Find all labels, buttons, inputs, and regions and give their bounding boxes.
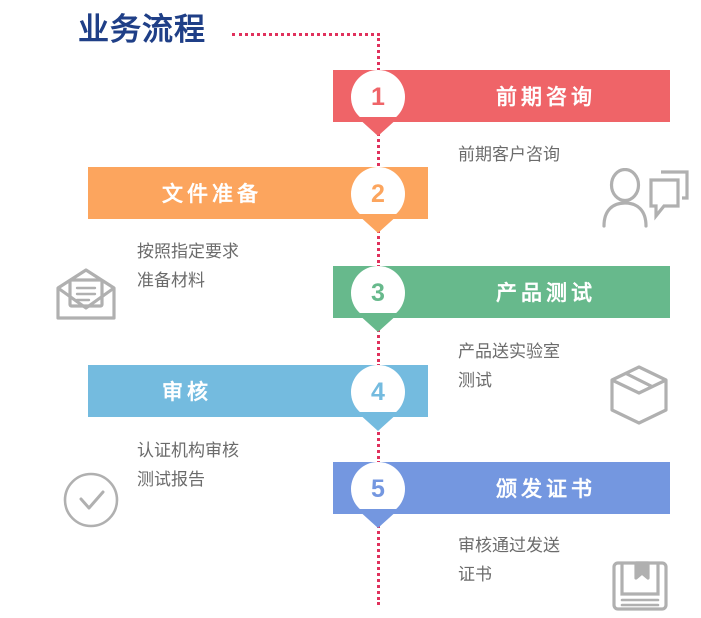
- step-4-label: 审核: [162, 376, 212, 406]
- step-1-pin[interactable]: 1: [351, 70, 405, 124]
- step-2-pin[interactable]: 2: [351, 167, 405, 221]
- step-1-label: 前期咨询: [496, 81, 596, 111]
- step-2-pointer: [357, 214, 399, 233]
- step-5-pin[interactable]: 5: [351, 462, 405, 516]
- step-2-label: 文件准备: [162, 178, 262, 208]
- business-process-diagram: 业务流程 前期咨询 1 前期客户咨询 文件准备 2 按照指定要求 准备材料: [0, 0, 701, 618]
- step-4-pointer: [357, 412, 399, 431]
- check-circle-icon: [62, 471, 120, 529]
- step-2-number: 2: [351, 167, 405, 221]
- step-4-description: 认证机构审核 测试报告: [137, 436, 239, 494]
- step-5-pointer: [357, 509, 399, 528]
- step-1-description: 前期客户咨询: [458, 140, 560, 169]
- step-3-description: 产品送实验室 测试: [458, 337, 560, 395]
- connector-title-horizontal: [232, 33, 380, 36]
- step-2-description: 按照指定要求 准备材料: [137, 237, 239, 295]
- person-chat-icon: [598, 168, 690, 230]
- step-3-label: 产品测试: [496, 277, 596, 307]
- step-1-pointer: [357, 117, 399, 136]
- step-1-number: 1: [351, 70, 405, 124]
- step-4-number: 4: [351, 365, 405, 419]
- box-icon: [608, 364, 670, 426]
- certificate-book-icon: [611, 560, 669, 612]
- step-5-description: 审核通过发送 证书: [458, 531, 560, 589]
- connector-title-vertical: [377, 33, 380, 71]
- step-5-number: 5: [351, 462, 405, 516]
- step-5-label: 颁发证书: [496, 473, 596, 503]
- step-4-pin[interactable]: 4: [351, 365, 405, 419]
- step-3-number: 3: [351, 266, 405, 320]
- envelope-icon: [55, 268, 117, 322]
- connector-5-tail: [377, 520, 380, 605]
- page-title: 业务流程: [78, 4, 206, 49]
- step-3-pointer: [357, 313, 399, 332]
- step-3-pin[interactable]: 3: [351, 266, 405, 320]
